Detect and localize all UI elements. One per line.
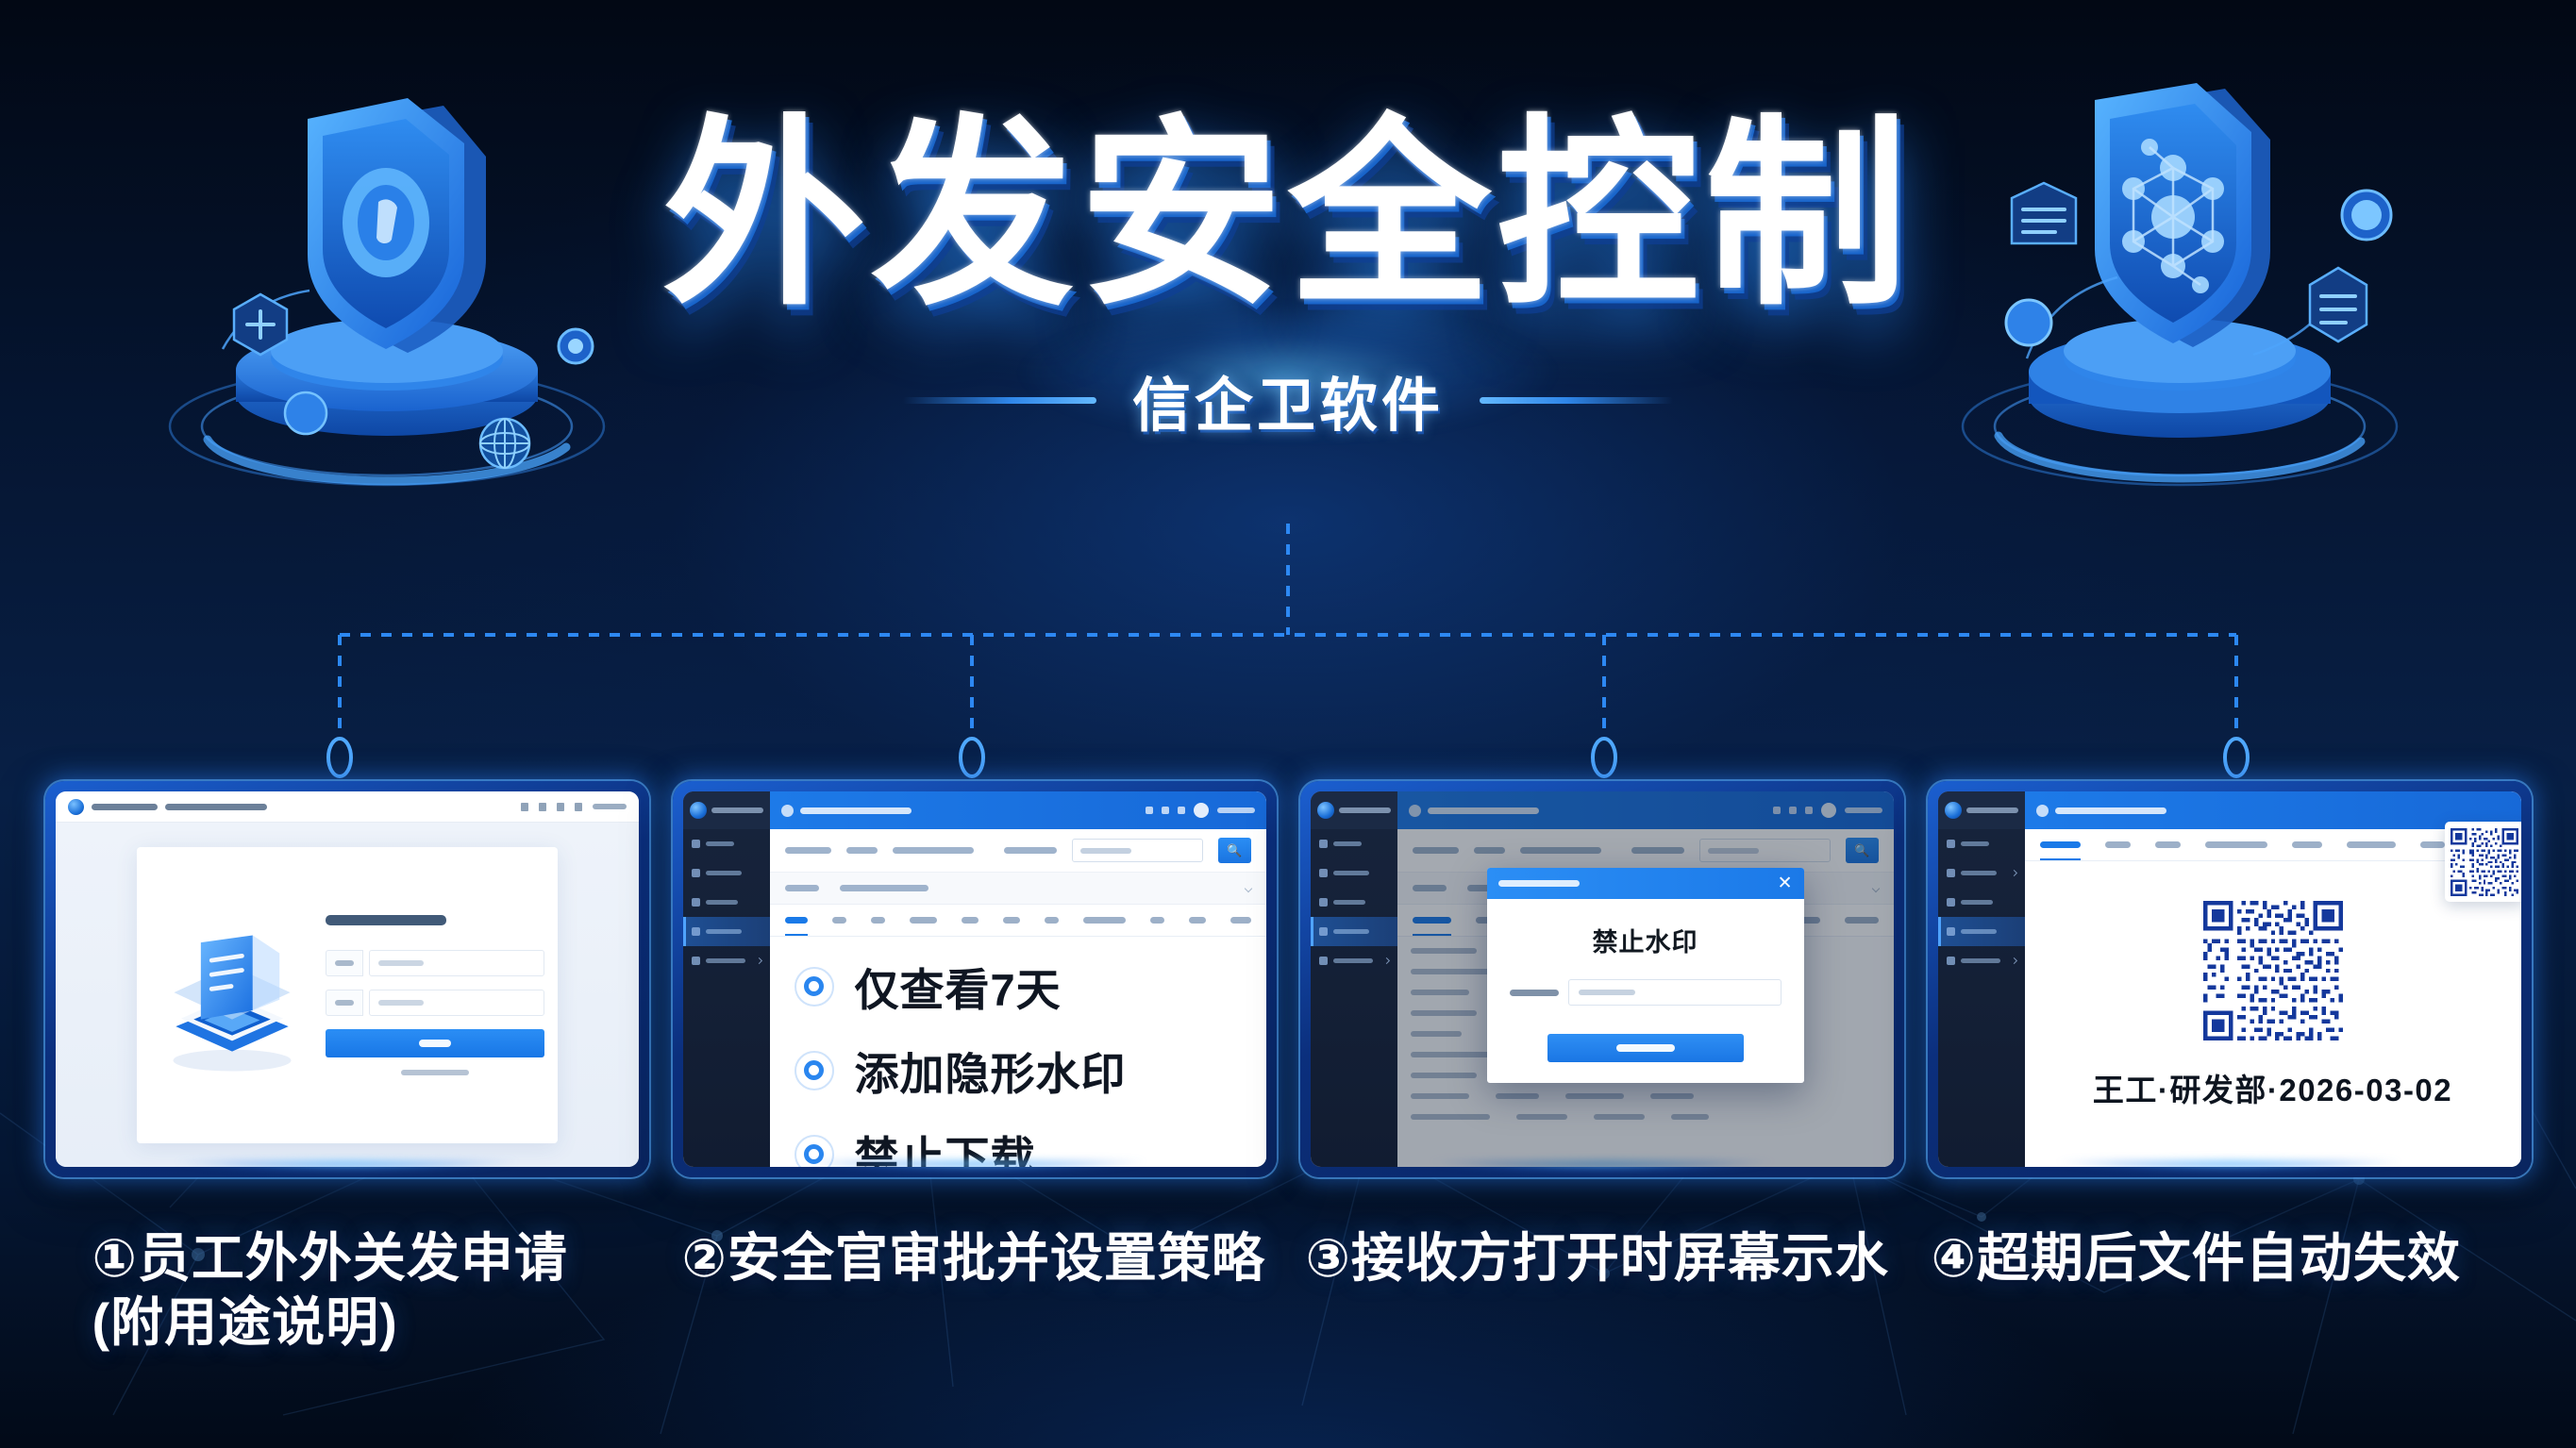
- sidebar-item-policy[interactable]: [1938, 917, 2025, 946]
- search-input[interactable]: [1072, 839, 1203, 862]
- sidebar-item-users[interactable]: [683, 858, 770, 888]
- screen-frame-1: [45, 781, 649, 1177]
- chevron-right-icon: [2010, 870, 2016, 876]
- sidebar-item-home[interactable]: [1311, 829, 1397, 858]
- login-form: [322, 915, 544, 1075]
- clock-icon: [1947, 927, 1955, 936]
- sub-filter-bar: [770, 873, 1266, 905]
- login-field-account[interactable]: [326, 950, 544, 976]
- tab-5[interactable]: [2292, 841, 2322, 848]
- sidebar-item-settings[interactable]: [1311, 946, 1397, 975]
- watermark-text: 王工·研发部·2026-03-02: [2093, 1065, 2452, 1110]
- filter-label-3: [893, 847, 974, 854]
- radio-icon[interactable]: [795, 967, 834, 1007]
- tab-2[interactable]: [2105, 841, 2131, 848]
- subfilter-value: [840, 885, 928, 891]
- policy-option-label: 添加隐形水印: [855, 1038, 1127, 1103]
- login-card: [137, 847, 558, 1143]
- login-window: [56, 791, 639, 1167]
- users-icon: [692, 869, 700, 877]
- qr-display-area: 王工·研发部·2026-03-02: [2025, 861, 2521, 1167]
- login-heading: [326, 915, 446, 925]
- file-icon: [1319, 898, 1328, 907]
- shield-logo-icon: [68, 799, 84, 815]
- settings-icon[interactable]: [557, 803, 564, 811]
- sidebar-item-home[interactable]: [683, 829, 770, 858]
- sidebar-item-files[interactable]: [683, 888, 770, 917]
- bell-icon[interactable]: [1162, 807, 1169, 814]
- search-icon[interactable]: [1146, 807, 1153, 814]
- subtitle-row: 信企卫软件: [903, 358, 1673, 442]
- qr-code-icon: [2451, 828, 2518, 896]
- hero-title-block: 外发安全控制 信企卫软件: [0, 113, 2576, 442]
- tab-3[interactable]: [2155, 841, 2181, 848]
- username-text: [1217, 807, 1255, 813]
- caption-step-4: ④超期后文件自动失效: [1928, 1226, 2532, 1356]
- moon-icon: [1319, 927, 1328, 936]
- search-field-label: [1004, 847, 1058, 854]
- caption-row: ①员工外外关发申请 (附用途说明) ②安全官审批并设置策略 ③接收方打开时屏幕示…: [0, 1226, 2576, 1356]
- module-icon: [781, 805, 794, 817]
- login-window-titlebar: [56, 791, 639, 823]
- caption-step-1: ①员工外外关发申请 (附用途说明): [45, 1226, 649, 1356]
- chevron-right-icon: [2010, 957, 2016, 964]
- forgot-password-link[interactable]: [401, 1070, 469, 1075]
- file-icon: [692, 898, 700, 907]
- dialog-titlebar: ✕: [1487, 868, 1804, 899]
- login-body: [56, 823, 639, 1167]
- search-button[interactable]: 🔍: [1218, 838, 1251, 863]
- filter-label-1: [785, 847, 831, 854]
- app-topbar-2: [770, 791, 1266, 829]
- sidebar-item-settings[interactable]: [683, 946, 770, 975]
- screen-content-4: 王工·研发部·2026-03-02: [1938, 791, 2521, 1167]
- policy-option-label: 禁止下载: [855, 1122, 1036, 1167]
- app-sidebar-2: [683, 791, 770, 1167]
- password-input[interactable]: [369, 990, 544, 1016]
- screen-content-3: 🔍: [1311, 791, 1894, 1167]
- tab-row[interactable]: [770, 905, 1266, 937]
- dialog-title-text: [1498, 880, 1580, 887]
- caption-line: ①员工外外关发申请: [92, 1226, 649, 1290]
- brand-logo-icon: [1317, 802, 1334, 819]
- dialog-field[interactable]: [1510, 979, 1781, 1006]
- tab-7[interactable]: [2420, 841, 2446, 848]
- refresh-icon[interactable]: [539, 803, 546, 811]
- tab-7[interactable]: [1045, 917, 1059, 924]
- policy-option-list: 仅查看7天 添加隐形水印 禁止下载: [770, 937, 1266, 1167]
- app-main-2: 🔍: [770, 791, 1266, 1167]
- login-submit-button[interactable]: [326, 1029, 544, 1057]
- panel-watermark-dialog: 🔍: [1300, 781, 1904, 1177]
- page-title: 外发安全控制: [662, 113, 1914, 316]
- moon-icon: [692, 927, 700, 936]
- sidebar-brand: [1311, 791, 1397, 829]
- close-icon[interactable]: ✕: [1778, 874, 1793, 892]
- radio-icon[interactable]: [795, 1051, 834, 1090]
- chevron-right-icon: [755, 957, 761, 964]
- login-field-password[interactable]: [326, 990, 544, 1016]
- panel-login: [45, 781, 649, 1177]
- qr-badge-overlay: [2445, 822, 2521, 902]
- chevron-right-icon: [1382, 957, 1389, 964]
- caption-line: ③接收方打开时屏幕示水: [1306, 1226, 1904, 1290]
- avatar[interactable]: [1194, 803, 1209, 818]
- watermark-dialog: ✕ 禁止水印: [1487, 868, 1804, 1083]
- caption-line: ②安全官审批并设置策略: [682, 1226, 1277, 1290]
- filter-bar: 🔍: [770, 829, 1266, 873]
- isometric-document-stack-icon: [142, 910, 322, 1080]
- window-controls[interactable]: [521, 803, 627, 811]
- sidebar-brand: [1938, 791, 2025, 829]
- caption-step-2: ②安全官审批并设置策略: [673, 1226, 1277, 1356]
- notes-icon[interactable]: [575, 803, 582, 811]
- sidebar-item-files[interactable]: [1311, 888, 1397, 917]
- dialog-heading: 禁止水印: [1510, 922, 1781, 958]
- app-main-4: 王工·研发部·2026-03-02: [2025, 791, 2521, 1167]
- file-icon: [1947, 898, 1955, 907]
- tab-10[interactable]: [1189, 917, 1206, 924]
- policy-option-3[interactable]: 禁止下载: [795, 1122, 1266, 1167]
- field-input[interactable]: [1568, 979, 1781, 1006]
- divider-left: [903, 397, 1096, 404]
- screen-frame-3: 🔍: [1300, 781, 1904, 1177]
- tab-5[interactable]: [962, 917, 979, 924]
- panel-row: 🔍: [0, 781, 2576, 1177]
- tab-3[interactable]: [871, 917, 885, 924]
- users-icon: [1319, 869, 1328, 877]
- module-title-text: [800, 807, 912, 814]
- filter-label-2: [846, 847, 878, 854]
- page-subtitle: 信企卫软件: [1132, 358, 1444, 442]
- screen-frame-4: 王工·研发部·2026-03-02: [1928, 781, 2532, 1177]
- connector-tree: [0, 524, 2576, 807]
- home-icon: [1319, 840, 1328, 848]
- app-main-3: 🔍: [1397, 791, 1894, 1167]
- screen-frame-2: 🔍: [673, 781, 1277, 1177]
- caption-step-3: ③接收方打开时屏幕示水: [1300, 1226, 1904, 1356]
- module-title-text: [2055, 807, 2166, 814]
- dialog-body: 禁止水印: [1487, 899, 1804, 1083]
- panel-policy: 🔍: [673, 781, 1277, 1177]
- tab-9[interactable]: [1150, 917, 1164, 924]
- tab-1[interactable]: [785, 917, 809, 924]
- home-icon: [1947, 840, 1955, 848]
- policy-option-2[interactable]: 添加隐形水印: [795, 1038, 1266, 1103]
- sidebar-brand: [683, 791, 770, 829]
- sidebar-item-files[interactable]: [1938, 888, 2025, 917]
- tab-4[interactable]: [910, 917, 937, 924]
- users-icon: [1947, 869, 1955, 877]
- sidebar-item-users[interactable]: [1938, 858, 2025, 888]
- app-sidebar-3: [1311, 791, 1397, 1167]
- user-label: [593, 804, 627, 809]
- account-label: [326, 950, 363, 976]
- gear-icon: [1947, 957, 1955, 965]
- brand-name-text: [1339, 807, 1391, 813]
- screen-content-1: [56, 791, 639, 1167]
- tab-8[interactable]: [1083, 917, 1126, 924]
- field-label: [1510, 990, 1559, 996]
- brand-logo-icon: [690, 802, 707, 819]
- password-label: [326, 990, 363, 1016]
- app-sidebar-4: [1938, 791, 2025, 1167]
- divider-right: [1480, 397, 1673, 404]
- qr-code-icon: [2203, 901, 2343, 1040]
- gear-icon: [1319, 957, 1328, 965]
- tab-6[interactable]: [2347, 841, 2395, 848]
- brand-name-text: [711, 807, 763, 813]
- app-subtitle-text: [165, 804, 267, 810]
- account-input[interactable]: [369, 950, 544, 976]
- poster-stage: 外发安全控制 信企卫软件: [0, 0, 2576, 1448]
- minimize-icon[interactable]: [521, 803, 528, 811]
- policy-option-label: 仅查看7天: [855, 954, 1062, 1019]
- caption-line: ④超期后文件自动失效: [1932, 1226, 2532, 1290]
- sidebar-item-settings[interactable]: [1938, 946, 2025, 975]
- brand-name-text: [1966, 807, 2018, 813]
- brand-logo-icon: [1945, 802, 1962, 819]
- chevron-down-icon[interactable]: [1244, 884, 1251, 891]
- tab-11[interactable]: [1230, 917, 1250, 924]
- sidebar-item-home[interactable]: [1938, 829, 2025, 858]
- app-name-text: [92, 804, 158, 810]
- panel-expired-qr: 王工·研发部·2026-03-02: [1928, 781, 2532, 1177]
- tab-4[interactable]: [2205, 841, 2268, 848]
- tab-6[interactable]: [1003, 917, 1020, 924]
- gear-icon[interactable]: [1178, 807, 1185, 814]
- subfilter-label: [785, 885, 819, 891]
- module-icon: [2036, 805, 2049, 817]
- confirm-button[interactable]: [1547, 1034, 1744, 1062]
- caption-line: (附用途说明): [92, 1290, 649, 1355]
- radio-icon[interactable]: [795, 1135, 834, 1168]
- sidebar-item-policy[interactable]: [1311, 917, 1397, 946]
- gear-icon: [692, 957, 700, 965]
- policy-option-1[interactable]: 仅查看7天: [795, 954, 1266, 1019]
- home-icon: [692, 840, 700, 848]
- sidebar-item-policy[interactable]: [683, 917, 770, 946]
- screen-content-2: 🔍: [683, 791, 1266, 1167]
- sidebar-item-users[interactable]: [1311, 858, 1397, 888]
- topbar-actions[interactable]: [1146, 803, 1255, 818]
- tab-2[interactable]: [832, 917, 846, 924]
- tab-1[interactable]: [2040, 841, 2082, 848]
